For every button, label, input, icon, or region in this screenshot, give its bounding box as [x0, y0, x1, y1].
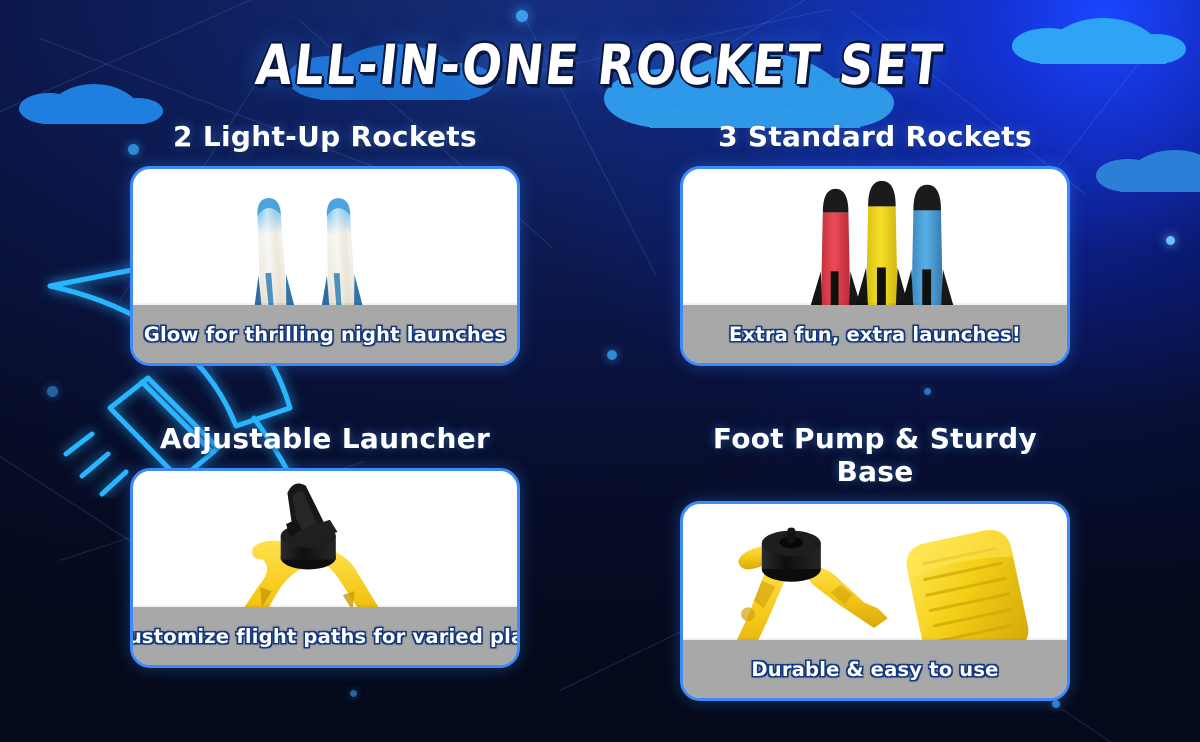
star-dot — [1052, 700, 1060, 708]
star-dot — [516, 10, 528, 22]
poster-root: ALL-IN-ONE ROCKET SET 2 Light-Up Rockets — [0, 0, 1200, 742]
feature-standard-rockets: 3 Standard Rockets — [680, 120, 1070, 366]
caption-text: Customize flight paths for varied play — [130, 625, 520, 648]
feature-card[interactable]: Durable & easy to use — [680, 501, 1070, 701]
feature-title: Adjustable Launcher — [130, 422, 520, 455]
feature-title: Foot Pump & Sturdy Base — [680, 422, 1070, 488]
page-title: ALL-IN-ONE ROCKET SET — [253, 33, 947, 98]
feature-title: 2 Light-Up Rockets — [130, 120, 520, 153]
feature-light-up-rockets: 2 Light-Up Rockets — [130, 120, 520, 366]
caption-bar: Extra fun, extra launches! — [683, 305, 1067, 363]
caption-bar: Customize flight paths for varied play — [133, 607, 517, 665]
poster-title-wrap: ALL-IN-ONE ROCKET SET — [0, 38, 1200, 93]
feature-adjustable-launcher: Adjustable Launcher — [130, 422, 520, 701]
caption-bar: Glow for thrilling night launches — [133, 305, 517, 363]
caption-bar: Durable & easy to use — [683, 640, 1067, 698]
caption-text: Durable & easy to use — [751, 658, 998, 681]
feature-card[interactable]: Glow for thrilling night launches — [130, 166, 520, 366]
feature-card[interactable]: Customize flight paths for varied play — [130, 468, 520, 668]
caption-text: Glow for thrilling night launches — [144, 323, 506, 346]
feature-row-top: 2 Light-Up Rockets — [0, 120, 1200, 366]
feature-foot-pump-base: Foot Pump & Sturdy Base — [680, 422, 1070, 701]
feature-card[interactable]: Extra fun, extra launches! — [680, 166, 1070, 366]
feature-title: 3 Standard Rockets — [680, 120, 1070, 153]
caption-text: Extra fun, extra launches! — [729, 323, 1021, 346]
feature-grid: 2 Light-Up Rockets — [0, 120, 1200, 701]
feature-row-bottom: Adjustable Launcher — [0, 422, 1200, 701]
